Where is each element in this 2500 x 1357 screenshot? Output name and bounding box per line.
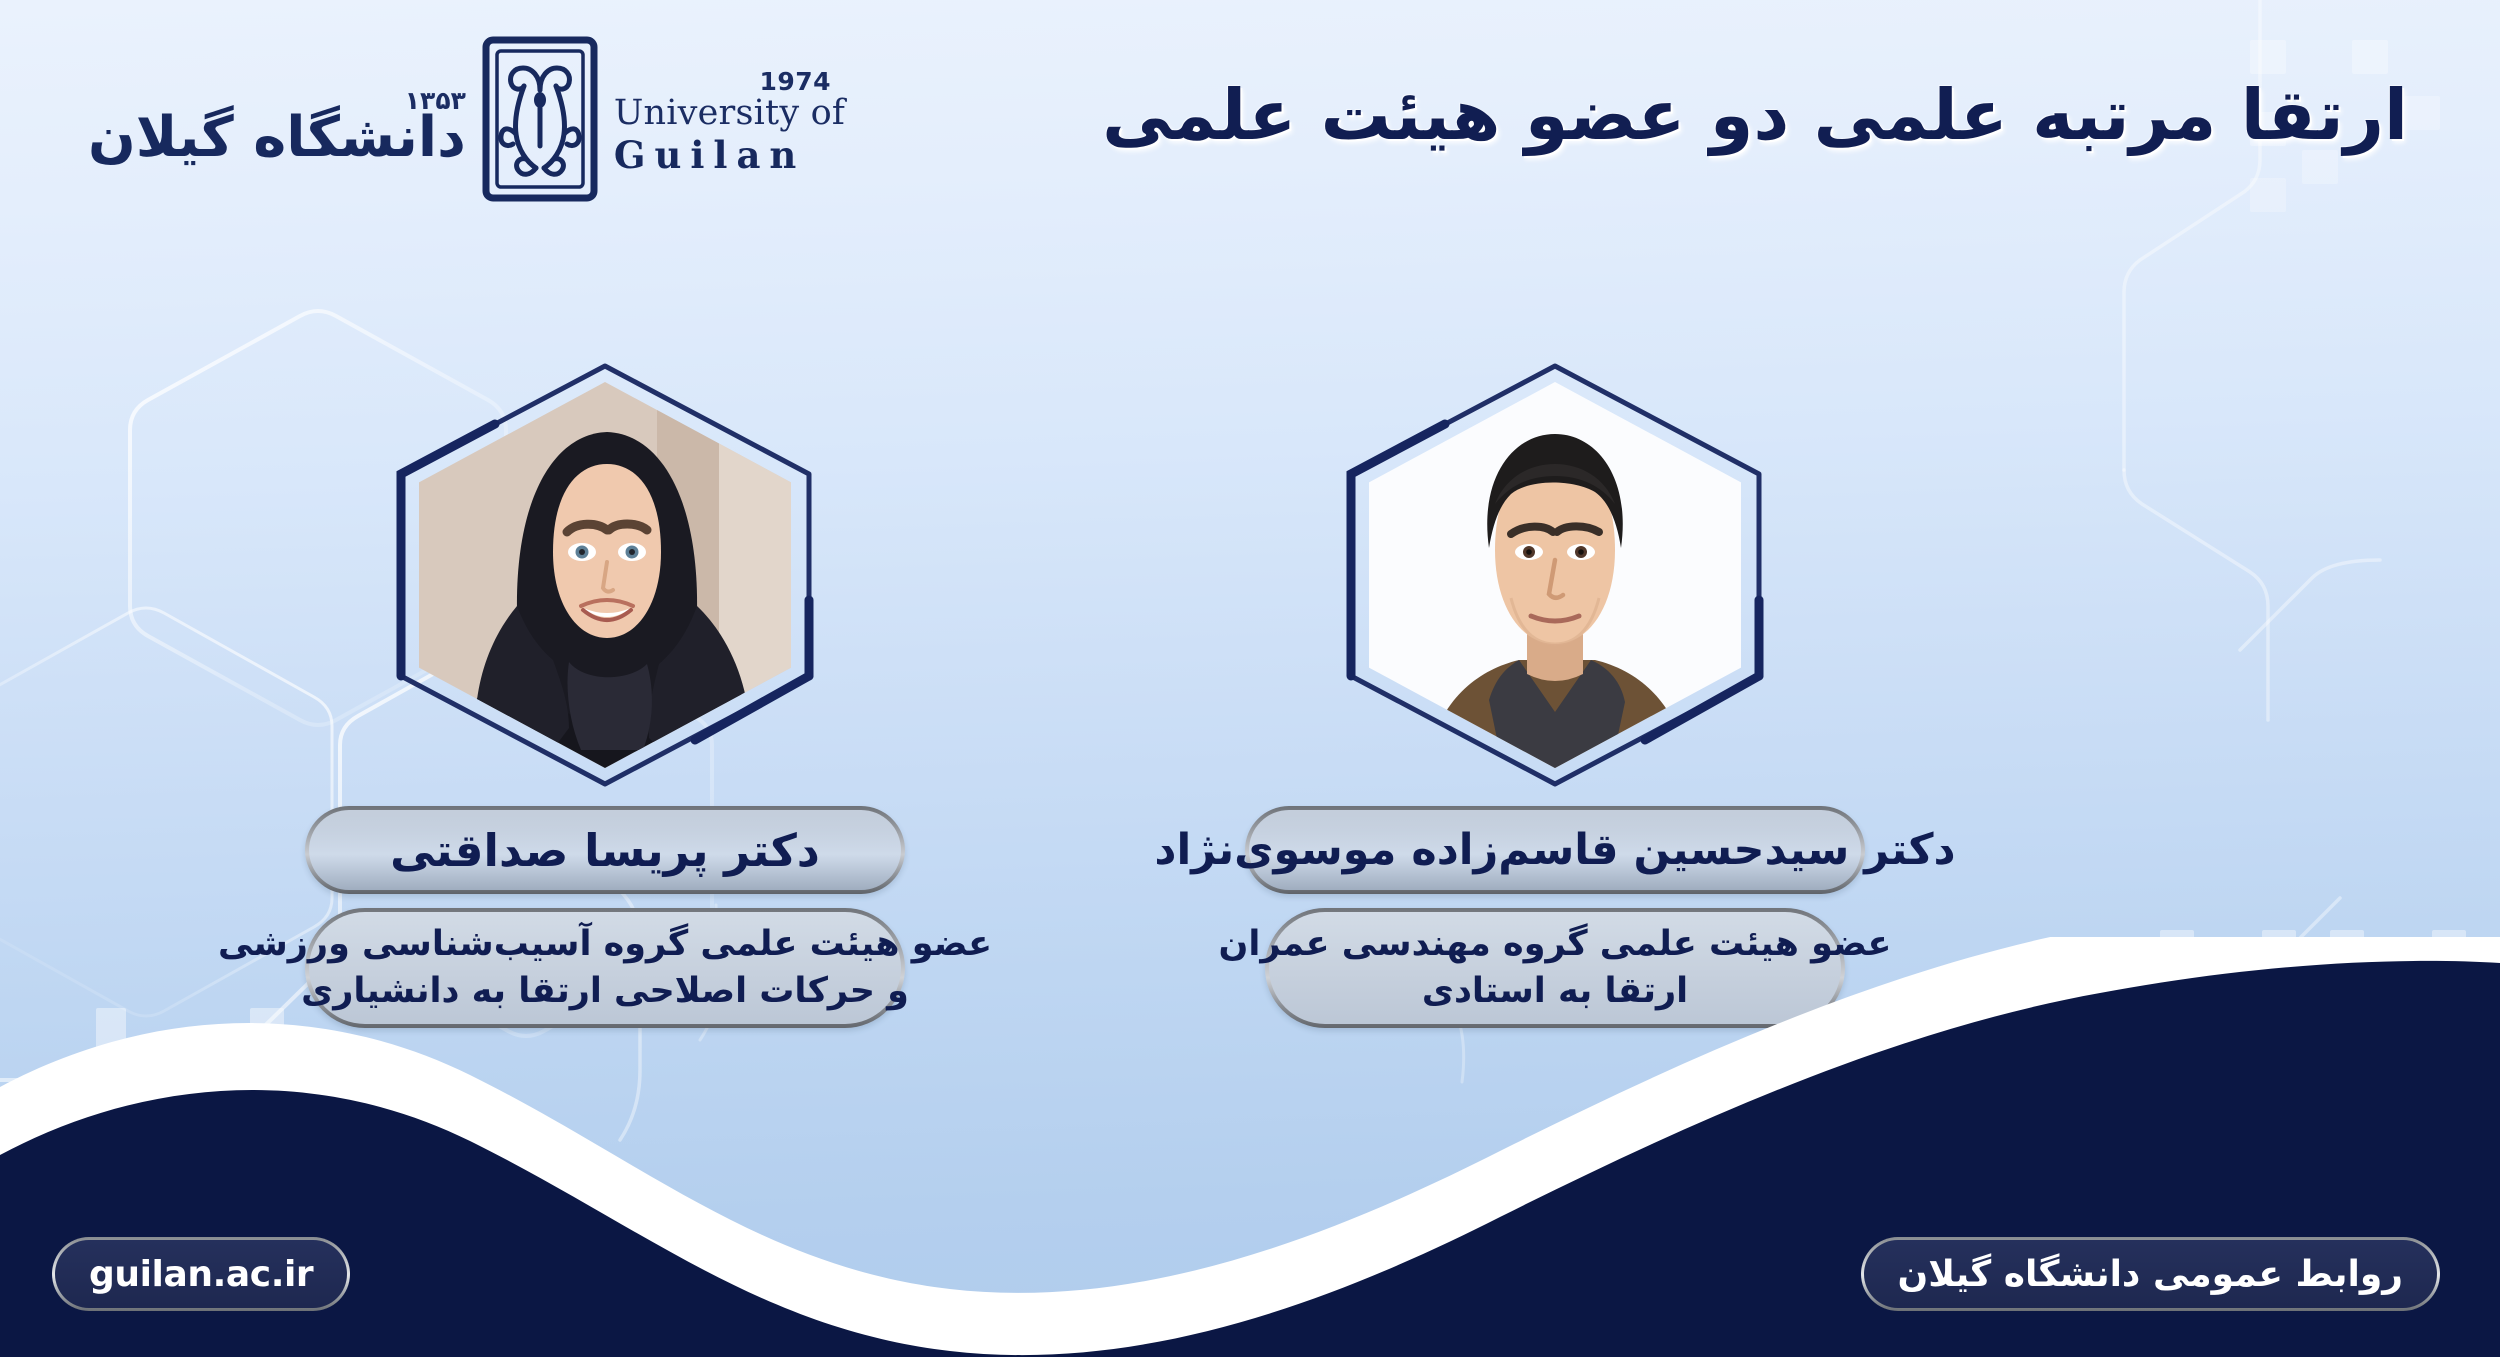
- poster-canvas: 1974 University of Guilan: [0, 0, 2500, 1357]
- person-card-ghasemzadeh-mousavinejad: دکتر سیدحسین قاسم‌زاده موسوی‌نژاد عضو هی…: [1235, 360, 1875, 1028]
- logo-year-gregorian: 1974: [759, 69, 831, 94]
- public-relations-badge: روابط عمومی دانشگاه گیلان: [1861, 1237, 2440, 1311]
- page-title: ارتقا مرتبه علمی دو عضو هیئت علمی: [1008, 73, 2408, 158]
- person-card-parisa-sedaghati: دکتر پریسا صداقتی عضو هیئت علمی گروه آسی…: [285, 360, 925, 1028]
- logo-guilan-word: Guilan: [614, 137, 806, 174]
- person-name-pill-left: دکتر پریسا صداقتی: [305, 806, 905, 894]
- portrait-hex-frame-right: [1345, 360, 1765, 790]
- logo-persian-name: دانشگاه گیلان: [88, 105, 466, 170]
- logo-english-block: 1974 University of Guilan: [610, 69, 845, 174]
- hex-outline-right: [1345, 360, 1765, 790]
- logo-university-word: University of: [614, 96, 845, 131]
- public-relations-label: روابط عمومی دانشگاه گیلان: [1898, 1254, 2403, 1295]
- logo-persian-block: ۱۳۵۳ دانشگاه گیلان: [88, 72, 466, 170]
- university-logo: 1974 University of Guilan: [88, 34, 845, 208]
- hex-outline-left: [395, 360, 815, 790]
- portrait-hex-frame-left: [395, 360, 815, 790]
- guilan-emblem-icon: [480, 34, 600, 208]
- person-name-pill-right: دکتر سیدحسین قاسم‌زاده موسوی‌نژاد: [1245, 806, 1865, 894]
- website-badge[interactable]: guilan.ac.ir: [52, 1237, 350, 1311]
- website-url: guilan.ac.ir: [89, 1254, 313, 1295]
- person-name-left: دکتر پریسا صداقتی: [390, 824, 820, 877]
- person-name-right: دکتر سیدحسین قاسم‌زاده موسوی‌نژاد: [1154, 825, 1955, 875]
